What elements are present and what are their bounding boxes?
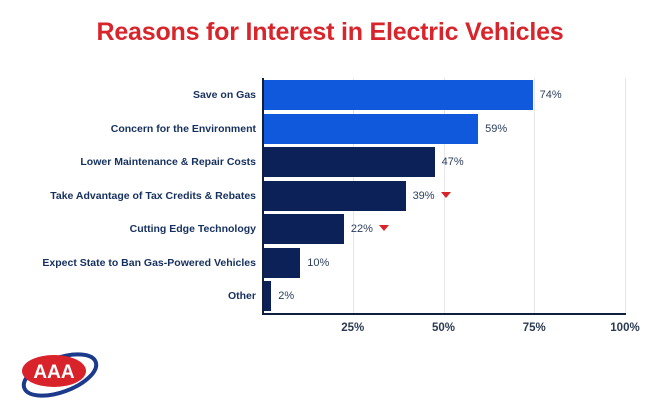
x-tick-label: 75%	[523, 322, 546, 334]
aaa-logo: AAA	[16, 350, 102, 398]
bar-value-label: 22%	[351, 214, 389, 244]
bar-row[interactable]: Save on Gas74%	[0, 80, 660, 110]
category-label: Concern for the Environment	[0, 114, 256, 144]
category-label: Expect State to Ban Gas-Powered Vehicles	[0, 248, 256, 278]
category-label: Cutting Edge Technology	[0, 214, 256, 244]
bar-and-value: 10%	[264, 248, 329, 278]
bar-row[interactable]: Other2%	[0, 281, 660, 311]
x-tick-label: 100%	[610, 322, 639, 334]
bar-value-label: 74%	[540, 80, 562, 110]
bar-value-label: 47%	[442, 147, 464, 177]
aaa-logo-text: AAA	[33, 362, 74, 383]
triangle-down-icon	[441, 192, 451, 198]
bar-row[interactable]: Lower Maintenance & Repair Costs47%	[0, 147, 660, 177]
bar-row[interactable]: Expect State to Ban Gas-Powered Vehicles…	[0, 248, 660, 278]
bar[interactable]	[264, 214, 344, 244]
bar-and-value: 2%	[264, 281, 294, 311]
bar-row[interactable]: Cutting Edge Technology22%	[0, 214, 660, 244]
bar-row[interactable]: Concern for the Environment59%	[0, 114, 660, 144]
bar-and-value: 59%	[264, 114, 507, 144]
bar-value-label: 39%	[413, 181, 451, 211]
bar-and-value: 22%	[264, 214, 389, 244]
x-tick-label: 25%	[341, 322, 364, 334]
bar-and-value: 47%	[264, 147, 464, 177]
category-label: Lower Maintenance & Repair Costs	[0, 147, 256, 177]
bar[interactable]	[264, 248, 300, 278]
bar[interactable]	[264, 80, 533, 110]
bar-and-value: 74%	[264, 80, 562, 110]
x-axis-tick-labels: 25%50%75%100%	[0, 322, 660, 342]
x-tick-label: 50%	[432, 322, 455, 334]
bar-value-label: 10%	[307, 248, 329, 278]
bar-row[interactable]: Take Advantage of Tax Credits & Rebates3…	[0, 181, 660, 211]
bar-and-value: 39%	[264, 181, 451, 211]
chart-page: Reasons for Interest in Electric Vehicle…	[0, 0, 660, 420]
category-label: Take Advantage of Tax Credits & Rebates	[0, 181, 256, 211]
bar[interactable]	[264, 114, 478, 144]
bar-rows: Save on Gas74%Concern for the Environmen…	[0, 72, 660, 315]
category-label: Save on Gas	[0, 80, 256, 110]
bar[interactable]	[264, 181, 406, 211]
page-title: Reasons for Interest in Electric Vehicle…	[0, 18, 660, 47]
bar-value-label: 2%	[278, 281, 294, 311]
triangle-down-icon	[379, 225, 389, 231]
category-label: Other	[0, 281, 256, 311]
bar[interactable]	[264, 281, 271, 311]
bar[interactable]	[264, 147, 435, 177]
bar-value-label: 59%	[485, 114, 507, 144]
